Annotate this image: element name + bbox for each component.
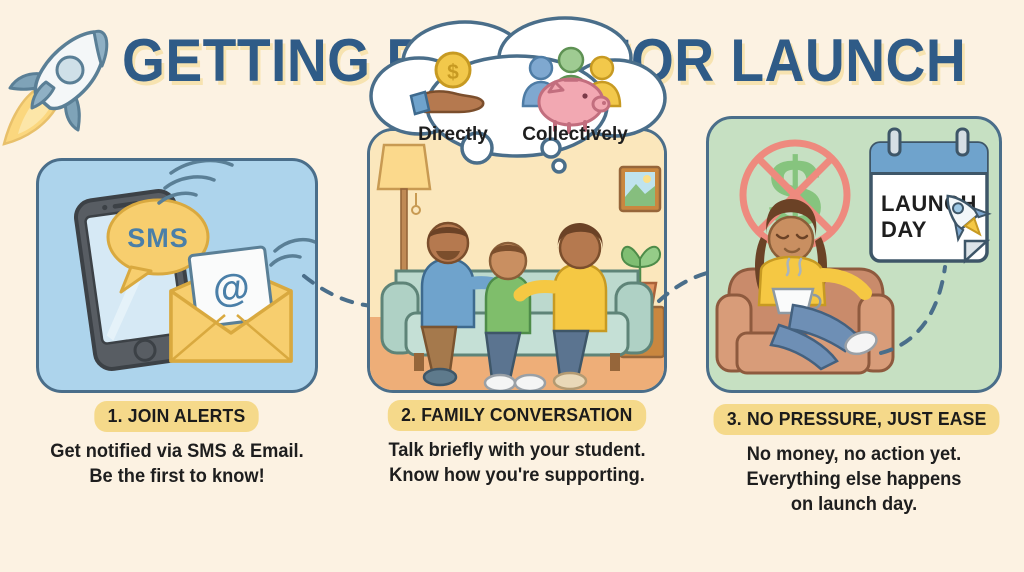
panel-3-caption: 3. NO PRESSURE, JUST EASE No money, no a… xyxy=(706,404,1002,517)
panel-3-body-line-2: Everything else happens xyxy=(712,467,996,492)
infographic-root: GETTING READY FOR LAUNCH SMS xyxy=(0,0,1024,572)
panel-1-card: SMS @ xyxy=(36,158,318,393)
svg-text:$: $ xyxy=(447,61,459,84)
panel-2-body: Talk briefly with your student. Know how… xyxy=(373,438,661,488)
calendar-icon: LAUNCH DAY xyxy=(871,129,995,261)
thought-bubble-icon: $ xyxy=(359,18,675,178)
panel-3-body: No money, no action yet. Everything else… xyxy=(712,442,996,517)
panel-1-pill-label: 1. JOIN ALERTS xyxy=(95,401,259,432)
panel-1-body: Get notified via SMS & Email. Be the fir… xyxy=(42,439,313,489)
svg-text:Directly: Directly xyxy=(418,124,488,145)
panel-3-card: $ LAUNCH DAY xyxy=(706,116,1002,393)
panel-2-pill-label: 2. FAMILY CONVERSATION xyxy=(388,400,646,431)
panel-1-body-line-1: Get notified via SMS & Email. xyxy=(42,439,313,464)
panel-1-caption: 1. JOIN ALERTS Get notified via SMS & Em… xyxy=(36,401,318,489)
svg-text:SMS: SMS xyxy=(127,223,189,253)
svg-text:@: @ xyxy=(210,266,252,312)
svg-text:DAY: DAY xyxy=(881,217,927,242)
panel-3-body-line-3: on launch day. xyxy=(712,492,996,517)
panel-2-caption: 2. FAMILY CONVERSATION Talk briefly with… xyxy=(367,400,667,488)
panel-3-body-line-1: No money, no action yet. xyxy=(712,442,996,467)
panel-2-body-line-1: Talk briefly with your student. xyxy=(373,438,661,463)
svg-text:Collectively: Collectively xyxy=(522,124,628,145)
panel-2-body-line-2: Know how you're supporting. xyxy=(373,463,661,488)
panel-1-body-line-2: Be the first to know! xyxy=(42,464,313,489)
panel-3-pill-label: 3. NO PRESSURE, JUST EASE xyxy=(714,404,1000,435)
rocket-icon xyxy=(2,16,122,146)
